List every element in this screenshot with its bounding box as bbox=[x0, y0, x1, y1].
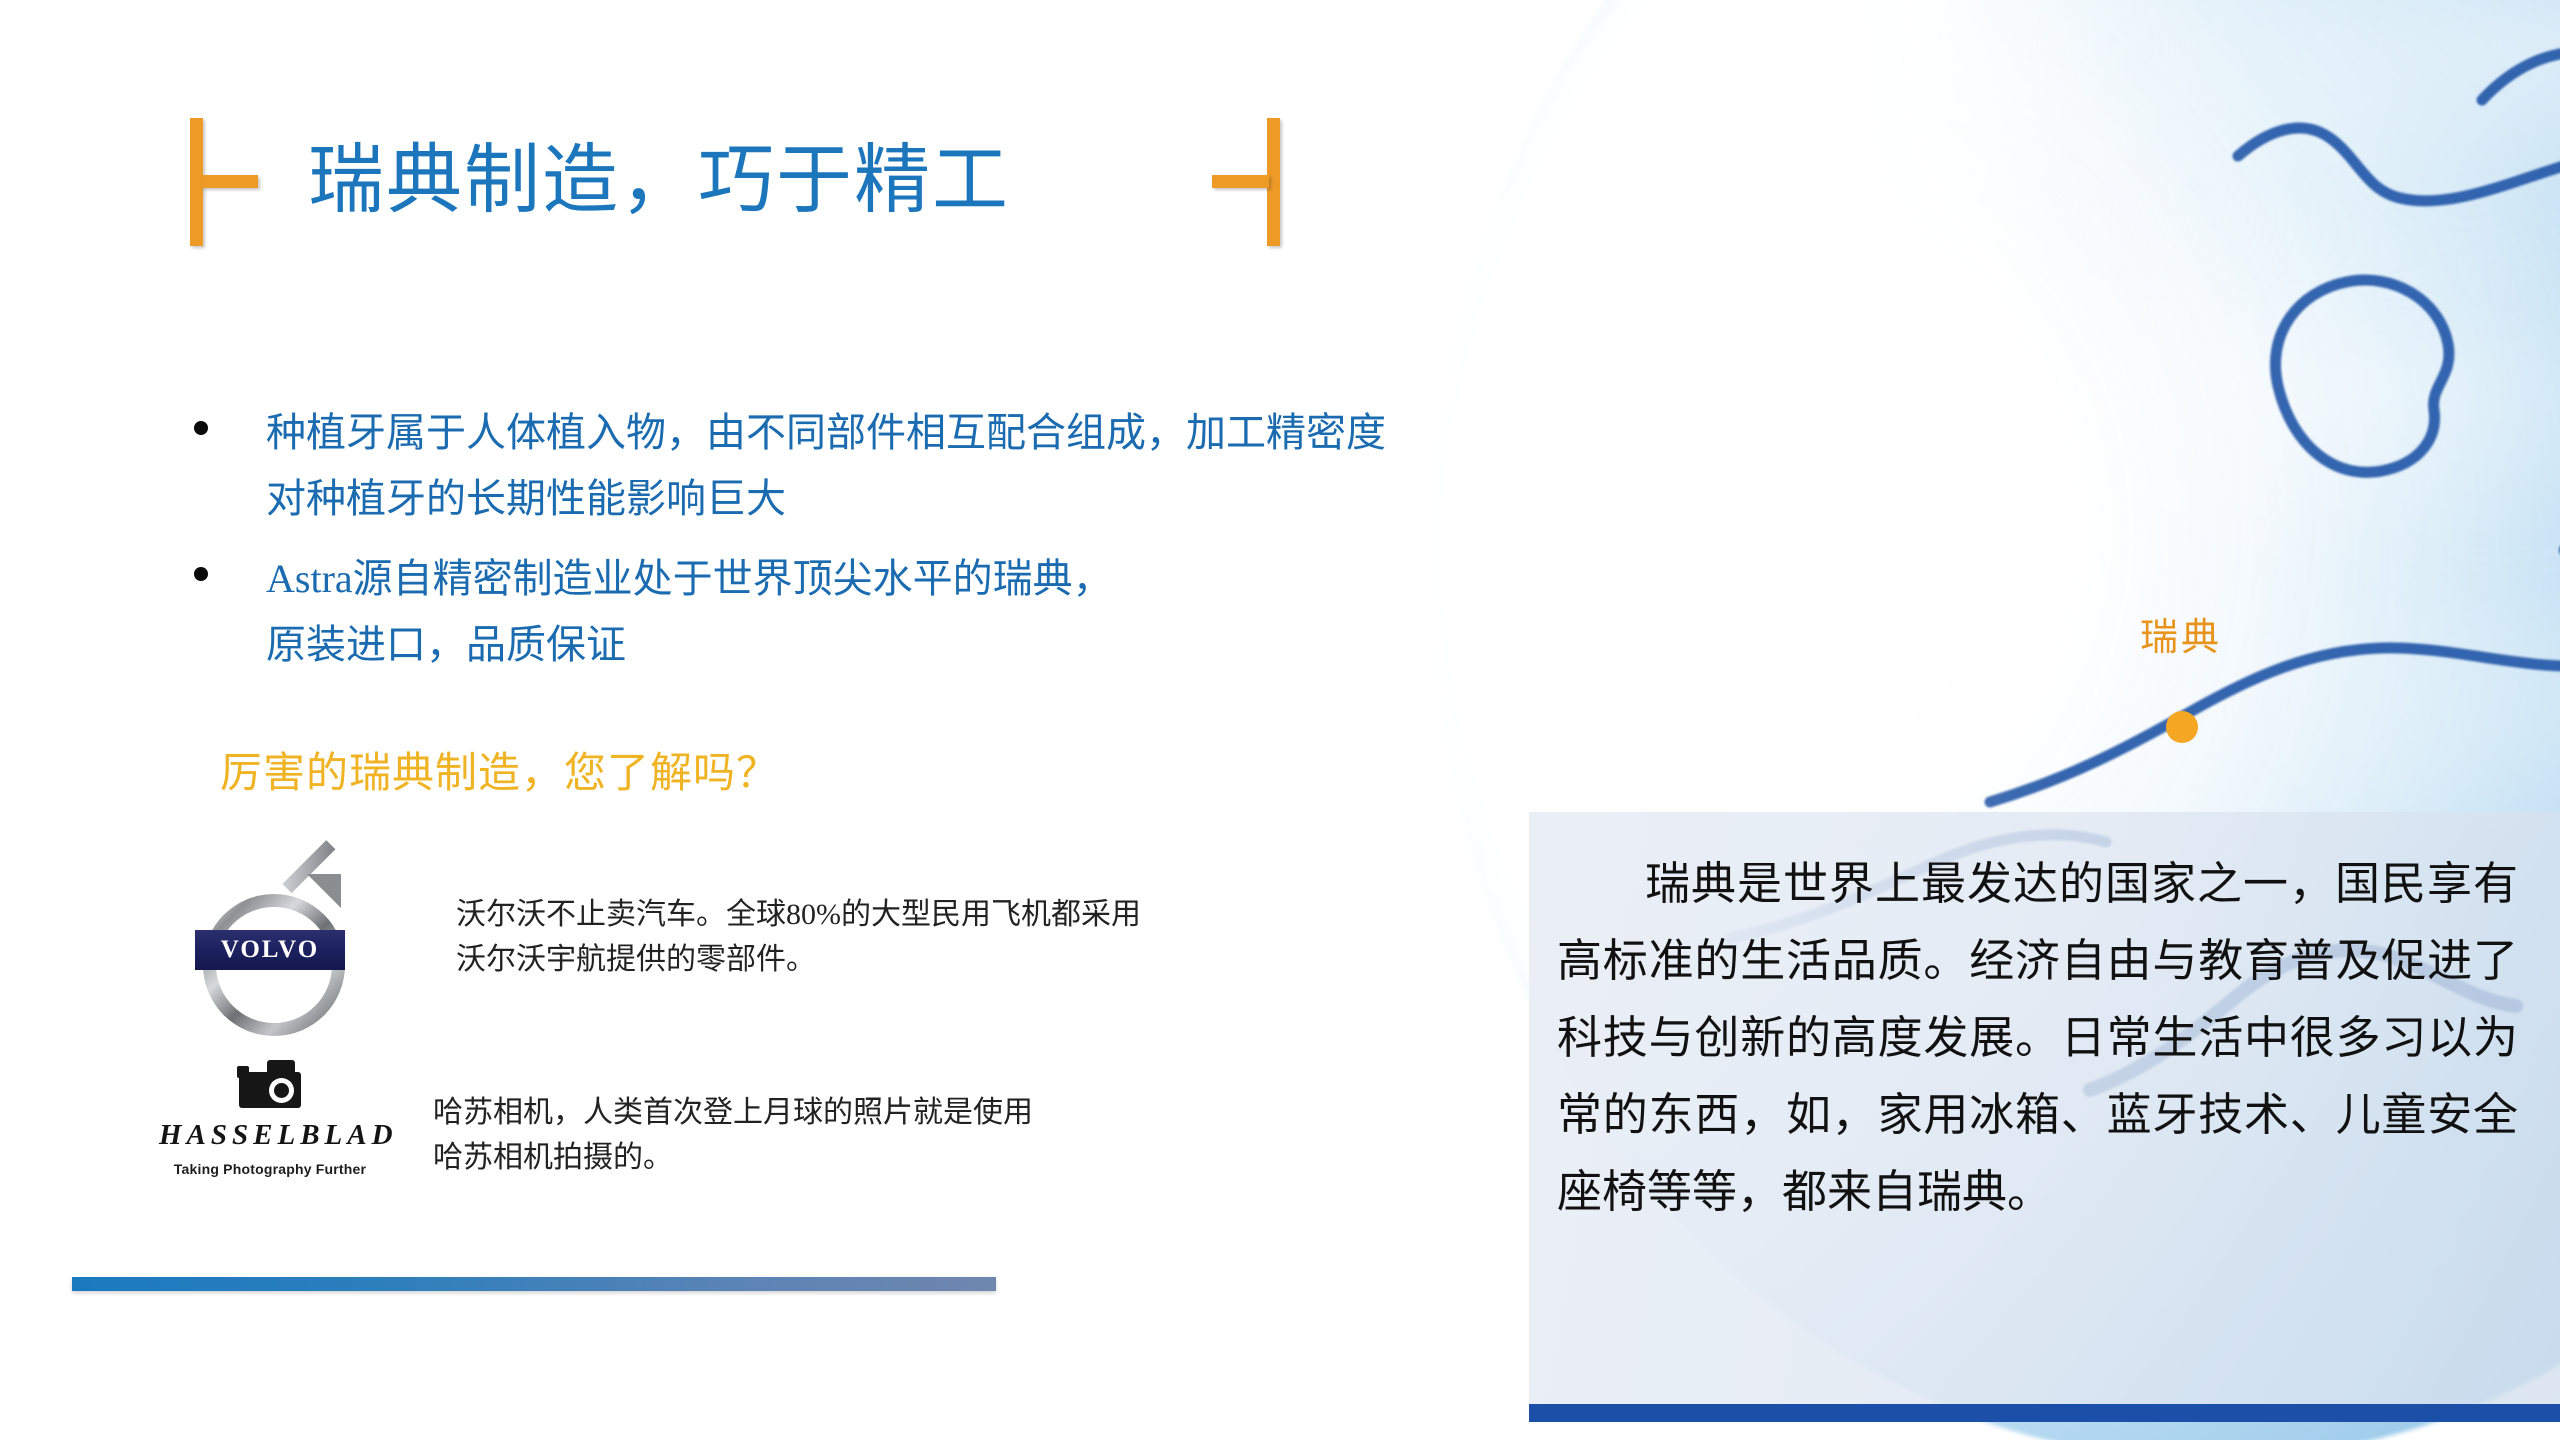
fact-text-block: 哈苏相机，人类首次登上月球的照片就是使用 哈苏相机拍摄的。 bbox=[433, 1050, 1033, 1180]
brand-fact-volvo: VOLVO 沃尔沃不止卖汽车。全球80%的大型民用飞机都采用 沃尔沃宇航提供的零… bbox=[180, 868, 1141, 1018]
globe-label-sweden: 瑞典 bbox=[2140, 615, 2222, 661]
subheading: 厉害的瑞典制造，您了解吗？ bbox=[220, 745, 779, 803]
slide-canvas: 瑞典制造，巧于精工 种植牙属于人体植入物，由不同部件相互配合组成，加工精密度 对… bbox=[0, 0, 2560, 1440]
page-title: 瑞典制造，巧于精工 bbox=[190, 118, 1290, 246]
fact-text-line: 沃尔沃不止卖汽车。全球80%的大型民用飞机都采用 bbox=[456, 892, 1141, 937]
list-item: Astra源自精密制造业处于世界顶尖水平的瑞典， 原装进口，品质保证 bbox=[180, 546, 1600, 678]
fact-text-line: 哈苏相机，人类首次登上月球的照片就是使用 bbox=[433, 1090, 1033, 1135]
volvo-wordmark: VOLVO bbox=[221, 936, 319, 964]
bullet-list: 种植牙属于人体植入物，由不同部件相互配合组成，加工精密度 对种植牙的长期性能影响… bbox=[180, 400, 1600, 692]
bullet-dot-icon bbox=[194, 567, 208, 581]
info-panel: 瑞典是世界上最发达的国家之一，国民享有高标准的生活品质。经济自由与教育普及促进了… bbox=[1529, 812, 2560, 1422]
bullet-line: 对种植牙的长期性能影响巨大 bbox=[266, 466, 1600, 532]
bullet-line: 原装进口，品质保证 bbox=[266, 612, 1600, 678]
hasselblad-tagline: Taking Photography Further bbox=[159, 1158, 381, 1180]
volvo-arrow-head-icon bbox=[307, 874, 341, 908]
bullet-line: 种植牙属于人体植入物，由不同部件相互配合组成，加工精密度 bbox=[266, 400, 1600, 466]
bullet-line: Astra源自精密制造业处于世界顶尖水平的瑞典， bbox=[266, 546, 1600, 612]
volvo-logo: VOLVO bbox=[180, 868, 360, 1018]
title-text: 瑞典制造，巧于精工 bbox=[308, 122, 1188, 240]
fact-text-line: 沃尔沃宇航提供的零部件。 bbox=[456, 937, 1141, 982]
fact-text-line: 哈苏相机拍摄的。 bbox=[433, 1135, 1033, 1180]
map-marker-dot-icon bbox=[2166, 711, 2198, 743]
bracket-left-icon bbox=[190, 118, 280, 246]
hasselblad-wordmark: HASSELBLAD bbox=[159, 1118, 381, 1152]
info-panel-text: 瑞典是世界上最发达的国家之一，国民享有高标准的生活品质。经济自由与教育普及促进了… bbox=[1557, 846, 2518, 1231]
hasselblad-logo: HASSELBLAD Taking Photography Further bbox=[155, 1050, 385, 1200]
decorative-divider bbox=[72, 1277, 996, 1291]
volvo-wordmark-band: VOLVO bbox=[195, 930, 345, 970]
fact-text-block: 沃尔沃不止卖汽车。全球80%的大型民用飞机都采用 沃尔沃宇航提供的零部件。 bbox=[456, 868, 1141, 982]
camera-icon bbox=[233, 1060, 307, 1110]
bracket-right-icon bbox=[1190, 118, 1280, 246]
bullet-dot-icon bbox=[194, 421, 208, 435]
list-item: 种植牙属于人体植入物，由不同部件相互配合组成，加工精密度 对种植牙的长期性能影响… bbox=[180, 400, 1600, 532]
brand-fact-hasselblad: HASSELBLAD Taking Photography Further 哈苏… bbox=[155, 1050, 1033, 1200]
